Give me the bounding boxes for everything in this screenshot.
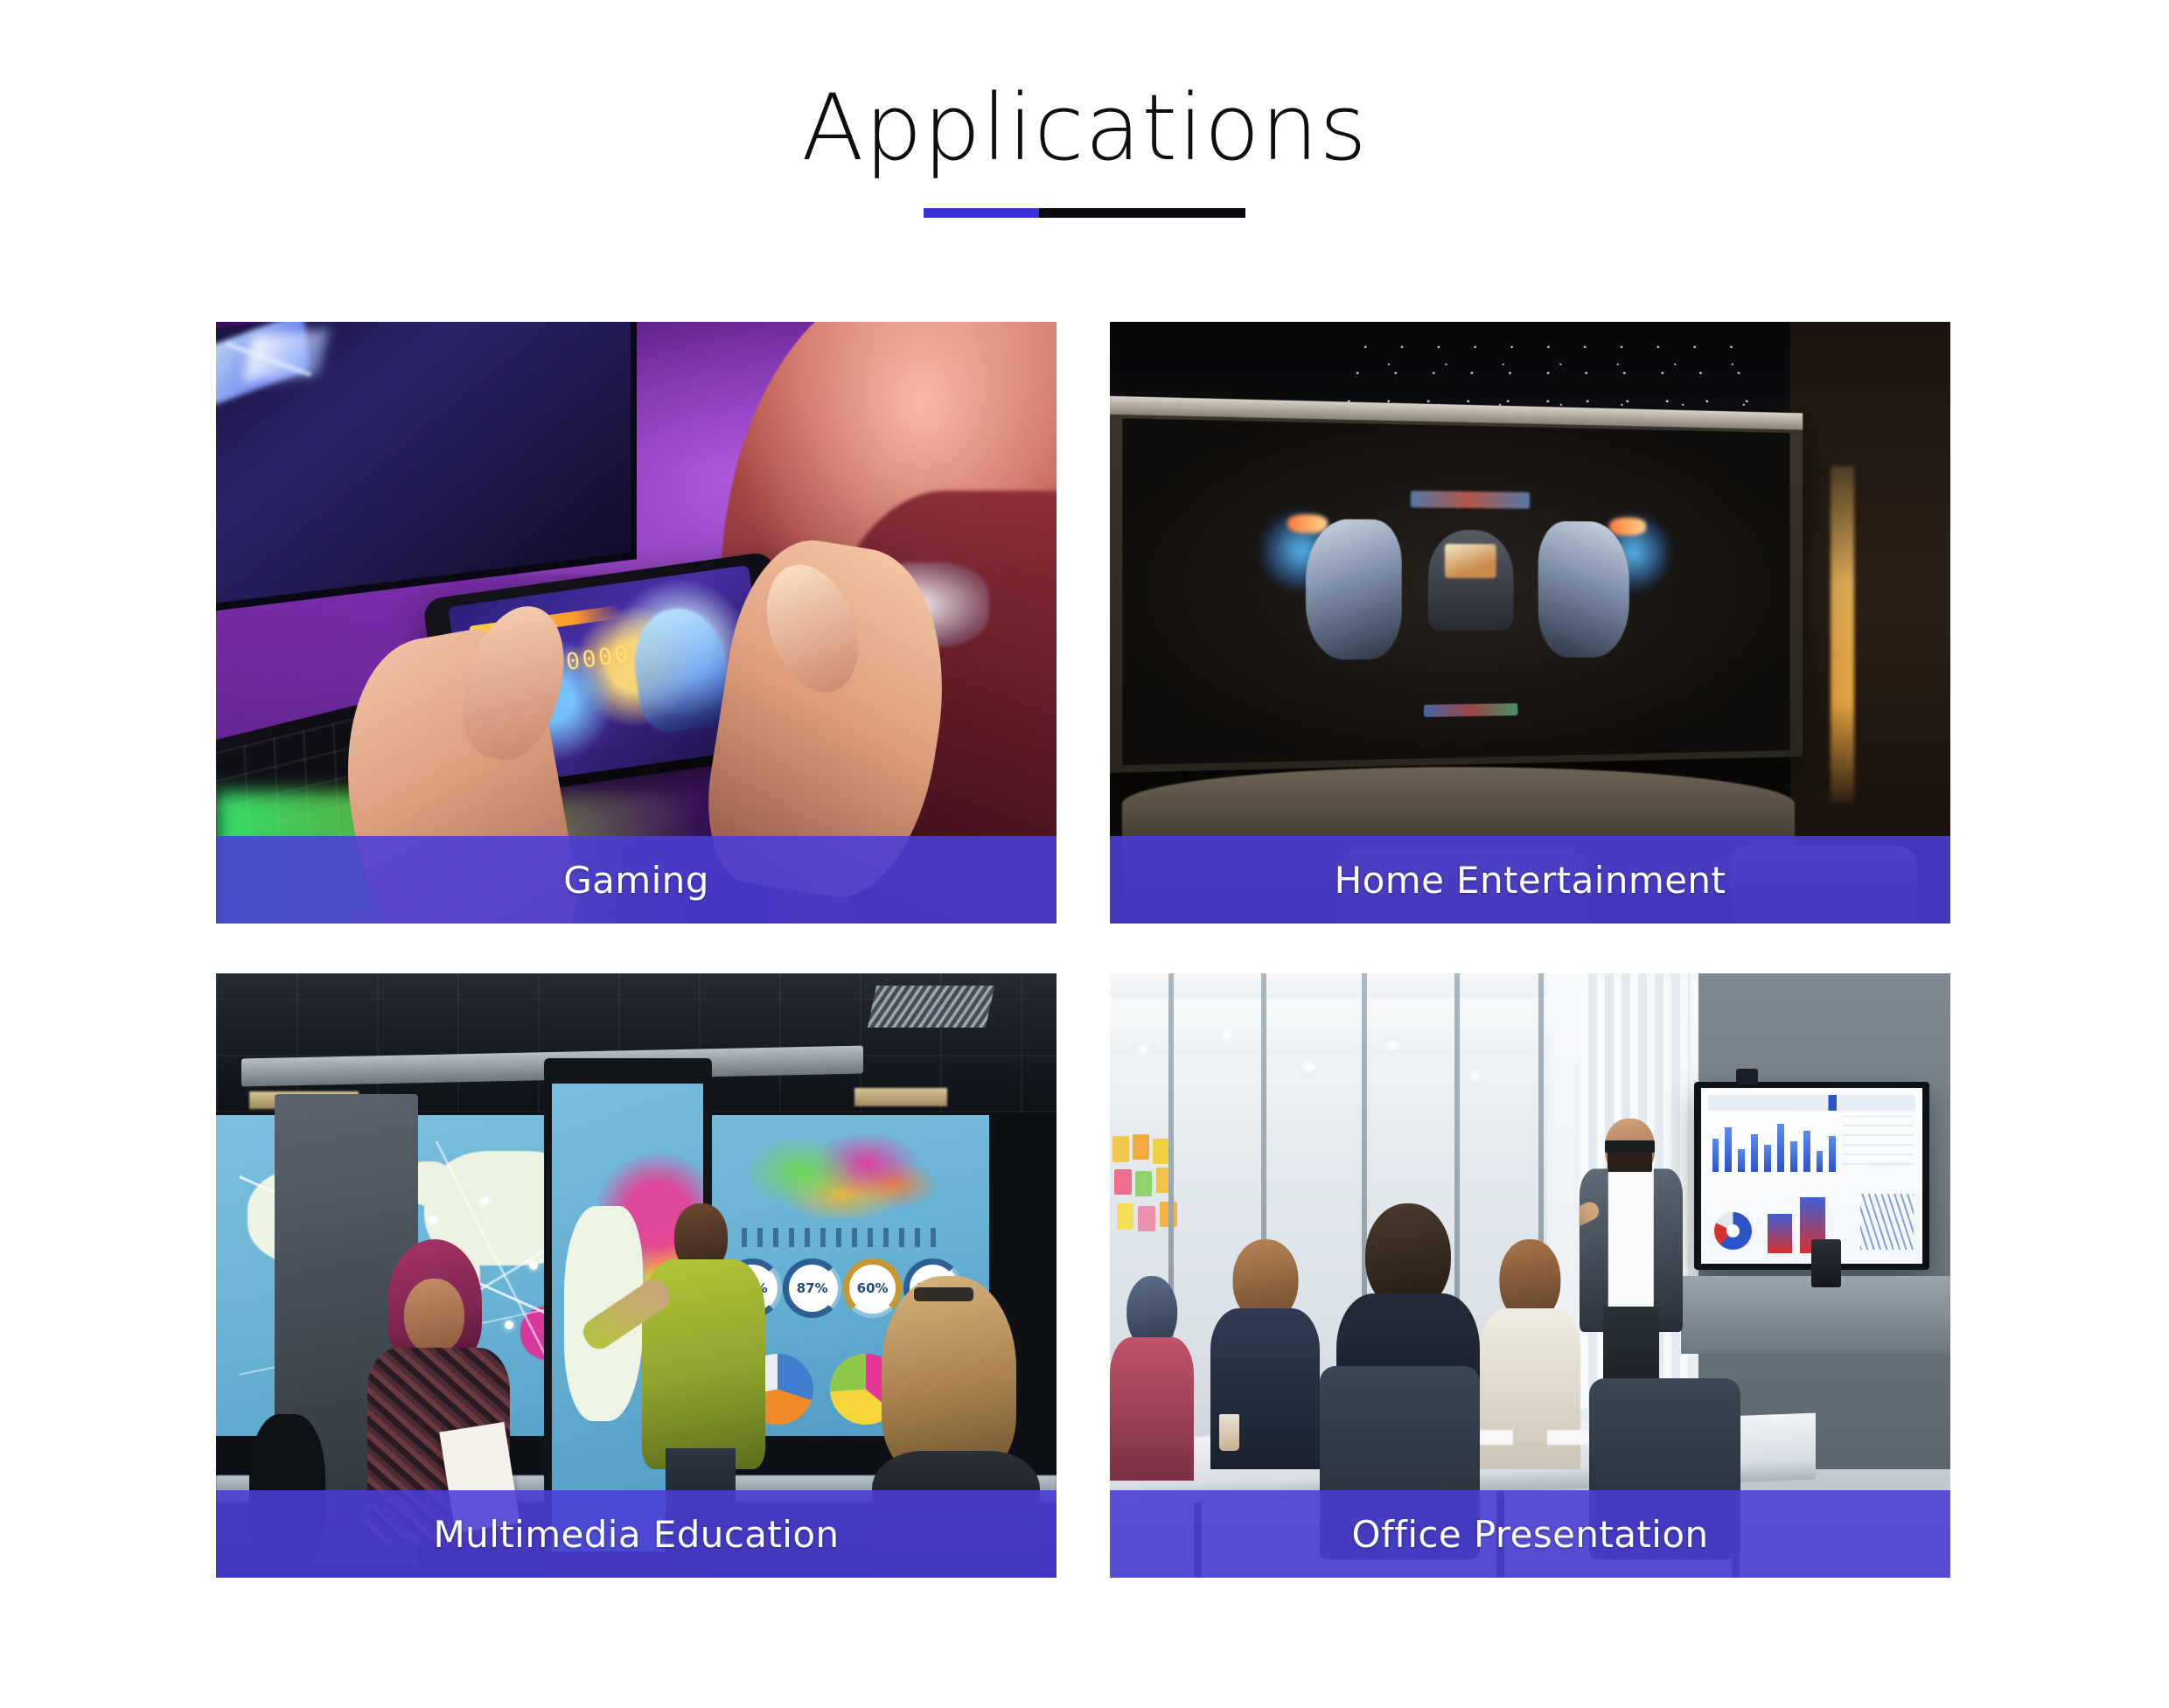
- student-glasses-icon: [914, 1287, 973, 1301]
- donut-gauge-value: 87%: [797, 1280, 828, 1296]
- seated-colleague-hijab: [1110, 1276, 1194, 1481]
- projection-screen-frame: [1110, 407, 1803, 772]
- gaming-character: [627, 603, 734, 735]
- home-theater-right-wall: [1790, 322, 1950, 924]
- coffee-machine: [1811, 1239, 1841, 1287]
- movie-hud-top: [1411, 491, 1530, 509]
- dashboard-bar: [1751, 1134, 1758, 1172]
- dashboard-donut-chart: [1714, 1212, 1752, 1250]
- ceiling-downlight: [1468, 1069, 1482, 1083]
- movie-spark-left: [1287, 513, 1328, 533]
- student-hair: [882, 1276, 1016, 1475]
- presenter-sweater: [642, 1259, 765, 1469]
- ceiling-downlight: [1136, 1042, 1150, 1056]
- application-card-home-entertainment[interactable]: Home Entertainment: [1110, 322, 1950, 924]
- sticky-note-board: [1110, 1132, 1224, 1248]
- movie-console-light: [1446, 544, 1496, 577]
- donut-gauge: 87%: [786, 1263, 837, 1314]
- sticky-note: [1112, 1136, 1129, 1161]
- card-label-bar-office-presentation: Office Presentation: [1110, 1490, 1950, 1578]
- movie-character-left: [1306, 519, 1403, 660]
- dashboard-column: [1768, 1214, 1792, 1253]
- map-node: [480, 1196, 489, 1205]
- colleague-torso: [1110, 1337, 1194, 1481]
- map-node: [429, 1216, 437, 1224]
- card-label-text-gaming: Gaming: [563, 859, 709, 902]
- projected-movie-scene: [1252, 478, 1678, 724]
- application-card-multimedia-education[interactable]: 60% 87% 60% 79%: [216, 973, 1057, 1578]
- ceiling-light-right: [854, 1088, 947, 1106]
- dashboard-bar-chart: [1712, 1119, 1837, 1172]
- bar-chart-strip: [742, 1228, 943, 1247]
- applications-page: Applications: [0, 0, 2169, 1708]
- home-entertainment-photo: [1110, 322, 1950, 924]
- video-camera-icon: [1736, 1069, 1757, 1084]
- dashboard-bar: [1829, 1136, 1836, 1172]
- dashboard-bar: [1790, 1141, 1797, 1172]
- multimedia-education-photo: 60% 87% 60% 79%: [216, 973, 1057, 1578]
- card-label-bar-home-entertainment: Home Entertainment: [1110, 836, 1950, 924]
- sticky-note: [1117, 1203, 1133, 1229]
- ceiling-downlight: [1302, 1060, 1316, 1074]
- movie-spark-right: [1609, 517, 1646, 536]
- ceiling-vent: [867, 986, 994, 1028]
- sticky-note: [1114, 1169, 1131, 1195]
- page-title: Applications: [0, 79, 2169, 177]
- section-header: Applications: [0, 79, 2169, 218]
- card-label-text-multimedia-education: Multimedia Education: [434, 1513, 840, 1556]
- gaming-score-readout: 0000: [564, 641, 632, 676]
- dashboard-header-row: [1708, 1095, 1916, 1111]
- card-label-bar-multimedia-education: Multimedia Education: [216, 1490, 1057, 1578]
- card-label-text-home-entertainment: Home Entertainment: [1335, 859, 1726, 902]
- dashboard-bar: [1738, 1149, 1745, 1173]
- sticky-note: [1133, 1134, 1149, 1160]
- wall-light-strip: [1831, 466, 1854, 803]
- dashboard-bar: [1777, 1124, 1784, 1173]
- title-underline-accent: [924, 208, 1039, 218]
- presenter-glasses-icon: [1605, 1140, 1655, 1153]
- card-label-text-office-presentation: Office Presentation: [1352, 1513, 1709, 1556]
- card-label-bar-gaming: Gaming: [216, 836, 1057, 924]
- sticky-note: [1138, 1206, 1154, 1231]
- ceiling-downlight: [1219, 1028, 1233, 1042]
- movie-hud-bottom: [1424, 703, 1517, 716]
- applications-grid: 0000 Gaming: [216, 322, 2021, 1578]
- sticky-note: [1135, 1171, 1152, 1196]
- title-underline-dark: [1039, 208, 1245, 218]
- dashboard-sparkline: [1860, 1194, 1914, 1250]
- colleague-torso: [1480, 1308, 1580, 1469]
- title-underline: [924, 208, 1245, 218]
- gaming-photo: 0000: [216, 322, 1057, 924]
- coffee-cup: [1219, 1414, 1239, 1450]
- dashboard-screen: [1701, 1088, 1922, 1264]
- ceiling-downlight: [1385, 1038, 1399, 1052]
- map-node: [529, 1261, 538, 1270]
- dashboard-bar: [1764, 1145, 1771, 1172]
- presenter-face: [404, 1279, 464, 1354]
- office-presentation-photo: [1110, 973, 1950, 1578]
- dashboard-bar: [1817, 1151, 1824, 1172]
- dashboard-bar: [1803, 1131, 1810, 1172]
- sticky-note: [1153, 1139, 1169, 1164]
- scatter-plot-visual: [750, 1134, 951, 1217]
- dashboard-bar: [1712, 1139, 1719, 1173]
- dashboard-table-rows: [1843, 1116, 1914, 1165]
- movie-character-right: [1539, 520, 1630, 658]
- dashboard-bar: [1725, 1127, 1732, 1173]
- application-card-gaming[interactable]: 0000 Gaming: [216, 322, 1057, 924]
- projection-screen: [1123, 418, 1790, 765]
- application-card-office-presentation[interactable]: Office Presentation: [1110, 973, 1950, 1578]
